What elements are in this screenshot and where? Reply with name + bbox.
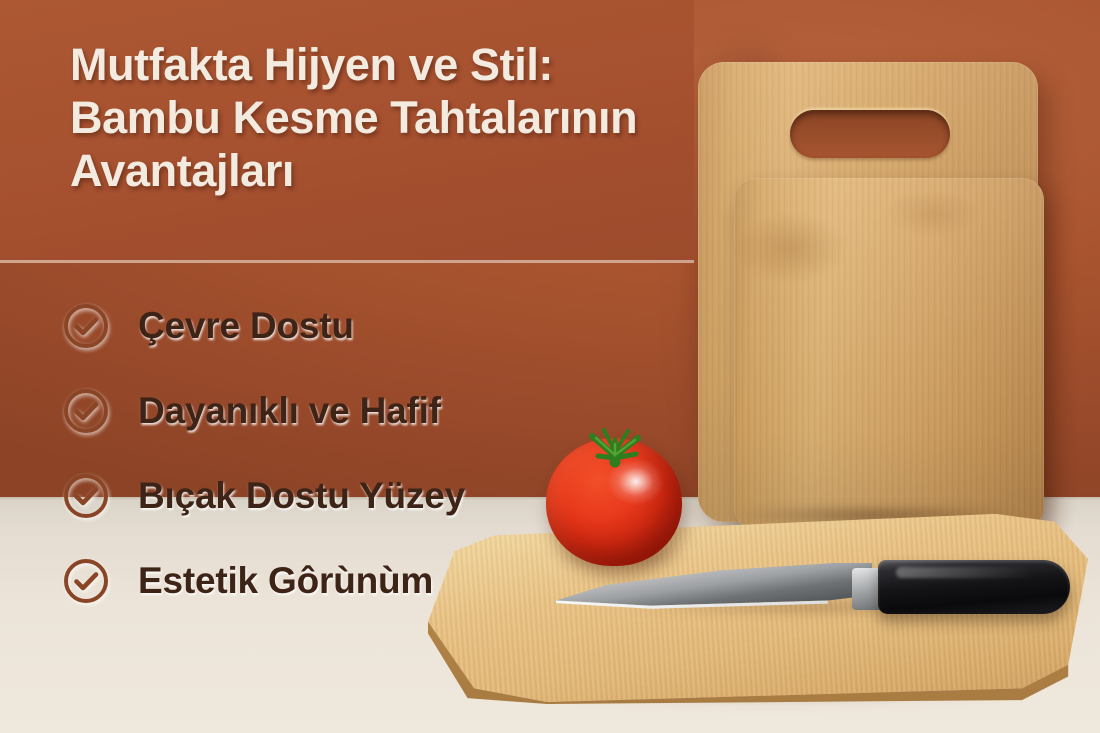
check-circle-icon [62, 302, 110, 350]
feature-list: Çevre Dostu Dayanıklı ve Hafif Bıçak Dos… [62, 296, 582, 611]
list-item-label: Dayanıklı ve Hafif [138, 390, 441, 432]
check-circle-icon [62, 557, 110, 605]
check-circle-icon [62, 387, 110, 435]
list-item-label: Bıçak Dostu Yüzey [138, 475, 465, 517]
poster-canvas: Mutfakta Hijyen ve Stil: Bambu Kesme Tah… [0, 0, 1100, 733]
cutting-board-handle-slot [790, 110, 950, 158]
list-item: Dayanıklı ve Hafif [62, 381, 582, 441]
list-item: Çevre Dostu [62, 296, 582, 356]
chef-knife [556, 540, 1066, 636]
check-circle-icon [62, 472, 110, 520]
knife-handle [878, 560, 1070, 614]
page-title: Mutfakta Hijyen ve Stil: Bambu Kesme Tah… [70, 38, 710, 197]
list-item-label: Estetik Gôrùnùm [138, 560, 433, 602]
cutting-board-middle-standing [734, 178, 1044, 530]
tomato-stem-icon [580, 422, 650, 474]
list-item-label: Çevre Dostu [138, 305, 354, 347]
list-item: Bıçak Dostu Yüzey [62, 466, 582, 526]
header-band: Mutfakta Hijyen ve Stil: Bambu Kesme Tah… [0, 0, 694, 263]
list-item: Estetik Gôrùnùm [62, 551, 582, 611]
